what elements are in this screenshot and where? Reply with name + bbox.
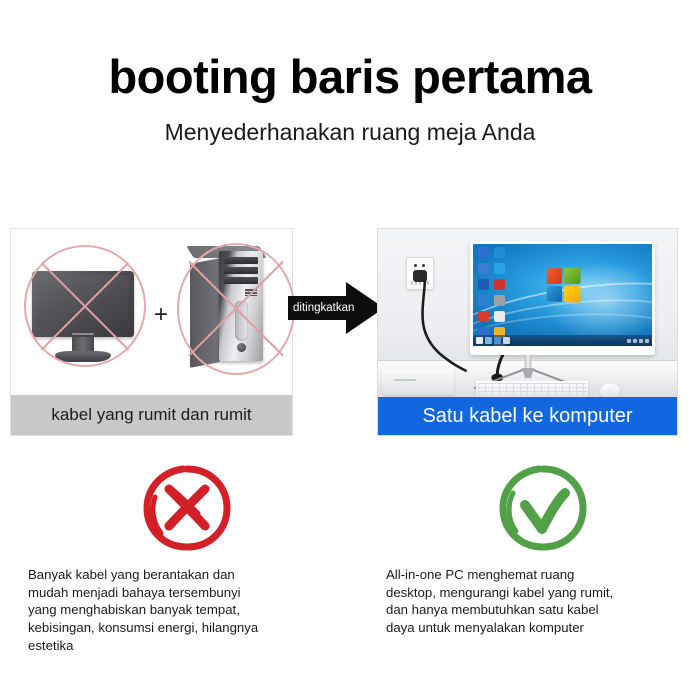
tray-icon[interactable] (645, 339, 649, 343)
verdict-text-line: mudah menjadi bahaya tersembunyi (28, 584, 352, 602)
red-x-mark-icon (22, 462, 394, 554)
desktop-icon[interactable] (478, 295, 489, 306)
windows-logo-pane (546, 286, 561, 302)
system-tray[interactable] (627, 339, 649, 343)
taskbar-icon[interactable] (476, 337, 483, 344)
desktop-icon[interactable] (494, 295, 505, 306)
verdict-text-line: estetika (28, 637, 352, 655)
verdict-negative-text: Banyak kabel yang berantakan danmudah me… (22, 566, 352, 654)
taskbar-icon[interactable] (494, 337, 501, 344)
desktop-icon[interactable] (478, 311, 489, 322)
taskbar-icon[interactable] (503, 337, 510, 344)
tower-ban-overlay-icon (177, 243, 295, 375)
all-in-one-monitor (470, 241, 655, 355)
socket-hole (422, 264, 425, 267)
page-subtitle: Menyederhanakan ruang meja Anda (0, 119, 700, 146)
monitor-ban-overlay-icon (24, 245, 146, 367)
windows-logo-icon (546, 267, 580, 302)
desktop-icon[interactable] (478, 247, 489, 258)
upgrade-arrow: ditingkatkan (288, 280, 384, 336)
monitor-screen-windows (473, 244, 652, 346)
old-setup-panel: + kabel yang rumit dan rumit (10, 228, 293, 436)
new-setup-panel: Satu kabel ke komputer (377, 228, 678, 436)
new-setup-caption: Satu kabel ke komputer (378, 397, 677, 435)
desktop-icon[interactable] (494, 279, 505, 290)
tray-icon[interactable] (633, 339, 637, 343)
power-plug (413, 270, 427, 282)
verdict-positive-text: All-in-one PC menghemat ruangdesktop, me… (378, 566, 700, 637)
page-header: booting baris pertama Menyederhanakan ru… (0, 52, 700, 146)
desktop-icon[interactable] (494, 247, 505, 258)
old-setup-caption: kabel yang rumit dan rumit (11, 395, 292, 435)
verdict-text-line: daya untuk menyalakan komputer (386, 619, 700, 637)
taskbar[interactable] (473, 335, 652, 346)
taskbar-icon-group[interactable] (476, 337, 510, 344)
verdict-negative: Banyak kabel yang berantakan danmudah me… (22, 462, 352, 654)
upgrade-arrow-label: ditingkatkan (293, 302, 354, 314)
desktop-icon[interactable] (478, 279, 489, 290)
monitor-neck (524, 355, 531, 369)
verdict-text-line: dan hanya membutuhkan satu kabel (386, 601, 700, 619)
plus-separator: + (154, 303, 168, 327)
windows-logo-pane (563, 286, 580, 303)
taskbar-icon[interactable] (485, 337, 492, 344)
verdict-positive: All-in-one PC menghemat ruangdesktop, me… (378, 462, 700, 637)
verdict-text-line: desktop, mengurangi kabel yang rumit, (386, 584, 700, 602)
verdict-text-line: Banyak kabel yang berantakan dan (28, 566, 352, 584)
old-setup-illustration: + (11, 229, 292, 397)
desktop-icon-grid[interactable] (476, 247, 506, 346)
tray-icon[interactable] (639, 339, 643, 343)
desktop-icon[interactable] (478, 263, 489, 274)
socket-hole (414, 264, 417, 267)
desk-device-box (382, 369, 454, 395)
desktop-icon[interactable] (494, 311, 505, 322)
green-check-mark-icon (378, 462, 700, 554)
keyboard-keys (478, 383, 586, 396)
verdict-row: Banyak kabel yang berantakan danmudah me… (0, 462, 700, 682)
windows-logo-pane (563, 267, 580, 284)
verdict-text-line: All-in-one PC menghemat ruang (386, 566, 700, 584)
page-title: booting baris pertama (0, 52, 700, 101)
verdict-text-line: yang menghabiskan banyak tempat, (28, 601, 352, 619)
windows-logo-pane (546, 268, 561, 284)
desktop-icon[interactable] (494, 263, 505, 274)
keyboard (476, 381, 588, 398)
verdict-text-line: kebisingan, konsumsi energi, hilangnya (28, 619, 352, 637)
wall-socket (406, 257, 434, 290)
comparison-row: + kabel yang rumit dan rumit diting (0, 228, 700, 440)
mouse (600, 384, 620, 398)
tray-icon[interactable] (627, 339, 631, 343)
